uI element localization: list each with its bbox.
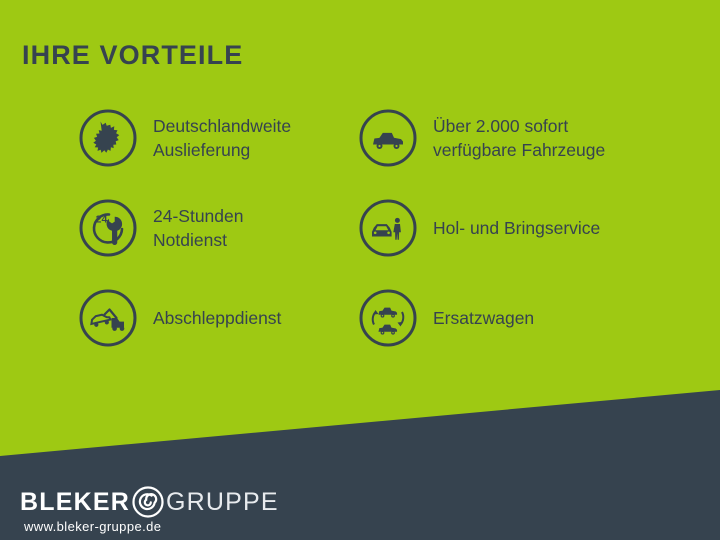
slide-canvas: IHRE VORTEILE Deutschlandweite Ausliefer… xyxy=(0,0,720,540)
benefit-label: Deutschlandweite Auslieferung xyxy=(153,114,291,162)
benefit-item: Ersatzwagen xyxy=(358,288,534,348)
two-cars-cycle-icon xyxy=(358,288,418,348)
benefit-label: Hol- und Bringservice xyxy=(433,216,600,240)
benefit-item: Hol- und Bringservice xyxy=(358,198,600,258)
benefit-label: 24-Stunden Notdienst xyxy=(153,204,244,252)
benefit-item: Über 2.000 sofort verfügbare Fahrzeuge xyxy=(358,108,605,168)
svg-text:24: 24 xyxy=(96,214,108,226)
spiral-circle-icon xyxy=(131,485,165,519)
germany-map-icon xyxy=(78,108,138,168)
car-side-icon xyxy=(358,108,418,168)
benefit-item: Deutschlandweite Auslieferung xyxy=(78,108,291,168)
page-title: IHRE VORTEILE xyxy=(22,40,243,71)
logo-primary-text: BLEKER xyxy=(20,488,130,517)
benefit-label: Über 2.000 sofort verfügbare Fahrzeuge xyxy=(433,114,605,162)
website-url[interactable]: www.bleker-gruppe.de xyxy=(24,519,161,534)
benefit-label: Abschleppdienst xyxy=(153,306,281,330)
benefit-item: 24 24-Stunden Notdienst xyxy=(78,198,244,258)
tow-truck-icon xyxy=(78,288,138,348)
green-background-panel xyxy=(0,0,720,540)
benefit-label: Ersatzwagen xyxy=(433,306,534,330)
brand-logo: BLEKER GRUPPE xyxy=(20,485,279,519)
logo-secondary-text: GRUPPE xyxy=(166,488,279,517)
car-person-icon xyxy=(358,198,418,258)
clock-24-wrench-icon: 24 xyxy=(78,198,138,258)
benefit-item: Abschleppdienst xyxy=(78,288,281,348)
